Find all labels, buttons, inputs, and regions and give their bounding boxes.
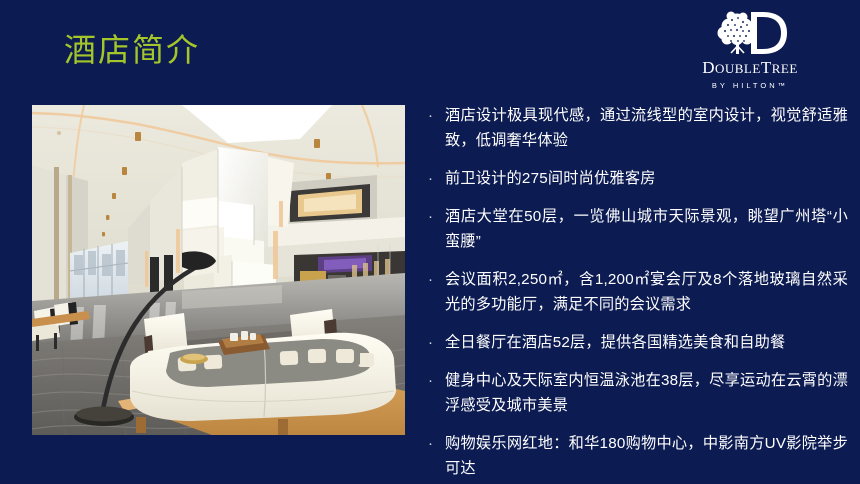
lobby-illustration: [32, 105, 405, 435]
list-item: · 酒店设计极具现代感，通过流线型的室内设计，视觉舒适雅致，低调奢华体验: [424, 103, 848, 153]
bullet-marker-icon: ·: [424, 267, 445, 292]
logo-tagline: BY HILTON™: [712, 80, 788, 91]
logo-word-d: D: [702, 58, 715, 77]
presentation-slide: 酒店简介: [0, 0, 860, 484]
list-item: · 健身中心及天际室内恒温泳池在38层，尽享运动在云霄的漂浮感受及城市美景: [424, 368, 848, 418]
bullet-text: 酒店大堂在50层，一览佛山城市天际景观，眺望广州塔“小蛮腰”: [445, 204, 848, 254]
logo-word-ree: REE: [772, 61, 798, 76]
bullet-text: 健身中心及天际室内恒温泳池在38层，尽享运动在云霄的漂浮感受及城市美景: [445, 368, 848, 418]
bullet-text: 全日餐厅在酒店52层，提供各国精选美食和自助餐: [445, 330, 848, 355]
bullet-marker-icon: ·: [424, 431, 445, 456]
bullet-marker-icon: ·: [424, 368, 445, 393]
logo-word-t: T: [761, 58, 772, 77]
bullet-marker-icon: ·: [424, 330, 445, 355]
tree-and-d-monogram-icon: [707, 8, 793, 58]
bullet-text: 前卫设计的275间时尚优雅客房: [445, 166, 848, 191]
bullet-marker-icon: ·: [424, 103, 445, 128]
hotel-intro-bullet-list: · 酒店设计极具现代感，通过流线型的室内设计，视觉舒适雅致，低调奢华体验 · 前…: [424, 103, 848, 484]
list-item: · 购物娱乐网红地：和华180购物中心，中影南方UV影院举步可达: [424, 431, 848, 481]
page-title: 酒店简介: [64, 28, 200, 72]
bullet-marker-icon: ·: [424, 166, 445, 191]
list-item: · 会议面积2,250㎡，含1,200㎡宴会厅及8个落地玻璃自然采光的多功能厅，…: [424, 267, 848, 317]
list-item: · 前卫设计的275间时尚优雅客房: [424, 166, 848, 191]
bullet-text: 会议面积2,250㎡，含1,200㎡宴会厅及8个落地玻璃自然采光的多功能厅，满足…: [445, 267, 848, 317]
bullet-text: 酒店设计极具现代感，通过流线型的室内设计，视觉舒适雅致，低调奢华体验: [445, 103, 848, 153]
logo-word-ouble: OUBLE: [715, 61, 761, 76]
hotel-lobby-photo: [32, 105, 405, 435]
logo-wordmark: DOUBLETREE: [702, 59, 798, 78]
bullet-marker-icon: ·: [424, 204, 445, 229]
bullet-text: 购物娱乐网红地：和华180购物中心，中影南方UV影院举步可达: [445, 431, 848, 481]
list-item: · 全日餐厅在酒店52层，提供各国精选美食和自助餐: [424, 330, 848, 355]
list-item: · 酒店大堂在50层，一览佛山城市天际景观，眺望广州塔“小蛮腰”: [424, 204, 848, 254]
doubletree-logo: DOUBLETREE BY HILTON™: [684, 8, 816, 92]
